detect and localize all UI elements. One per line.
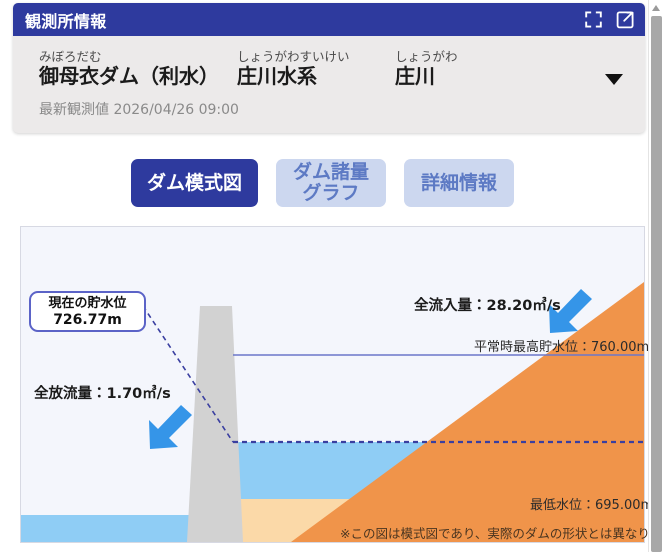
river-system-block: しょうがわすいけい 庄川水系: [237, 49, 395, 89]
river-system-name: 庄川水系: [237, 64, 395, 89]
scroll-up-arrow-icon[interactable]: [652, 5, 660, 11]
tab-bar: ダム模式図 ダム諸量 グラフ 詳細情報: [0, 159, 645, 207]
total-inflow-label: 全流入量：28.20㎥/s: [414, 294, 561, 315]
last-observation-timestamp: 最新観測値 2026/04/26 09:00: [39, 99, 239, 119]
scrollbar-thumb[interactable]: [651, 16, 662, 552]
river-system-ruby: しょうがわすいけい: [237, 49, 395, 64]
station-name-row: みぼろだむ 御母衣ダム（利水） しょうがわすいけい 庄川水系 しょうがわ 庄川: [39, 49, 535, 89]
tab-detail-info[interactable]: 詳細情報: [404, 159, 514, 207]
page-scrollbar[interactable]: [648, 0, 664, 552]
chevron-down-icon[interactable]: [605, 74, 623, 85]
station-body: みぼろだむ 御母衣ダム（利水） しょうがわすいけい 庄川水系 しょうがわ 庄川 …: [13, 36, 645, 133]
page-title: 観測所情報: [25, 8, 107, 32]
fullscreen-icon[interactable]: [584, 10, 603, 29]
downstream-water: [21, 515, 205, 542]
tab-dam-metrics-graph-label: ダム諸量 グラフ: [293, 162, 369, 204]
external-link-icon[interactable]: [616, 10, 635, 29]
lowest-water-level-label: 最低水位：695.00m: [530, 494, 653, 513]
dam-name-ruby: みぼろだむ: [39, 49, 237, 64]
normal-high-water-label: 平常時最高貯水位：760.00m: [474, 336, 649, 355]
station-info-card: 観測所情報: [13, 3, 645, 133]
tab-dam-metrics-graph[interactable]: ダム諸量 グラフ: [276, 159, 386, 207]
schematic-note: ※この図は模式図であり、実際のダムの形状とは異なります: [340, 523, 664, 542]
river-name: 庄川: [395, 64, 535, 89]
total-outflow-label: 全放流量：1.70㎥/s: [34, 382, 171, 403]
river-ruby: しょうがわ: [395, 49, 535, 64]
tab-dam-schematic[interactable]: ダム模式図: [131, 159, 258, 207]
river-block: しょうがわ 庄川: [395, 49, 535, 89]
tab-detail-info-label: 詳細情報: [421, 173, 497, 194]
app-root: 観測所情報: [0, 0, 664, 552]
tab-dam-schematic-label: ダム模式図: [147, 173, 242, 194]
current-water-level-callout: 現在の貯水位 726.77m: [29, 291, 146, 332]
dam-name-block: みぼろだむ 御母衣ダム（利水）: [39, 49, 237, 89]
card-header: 観測所情報: [13, 3, 645, 36]
current-water-level-value: 726.77m: [53, 312, 122, 328]
dam-name: 御母衣ダム（利水）: [39, 64, 237, 89]
current-water-level-title: 現在の貯水位: [48, 296, 126, 312]
header-icon-group: [584, 3, 635, 36]
